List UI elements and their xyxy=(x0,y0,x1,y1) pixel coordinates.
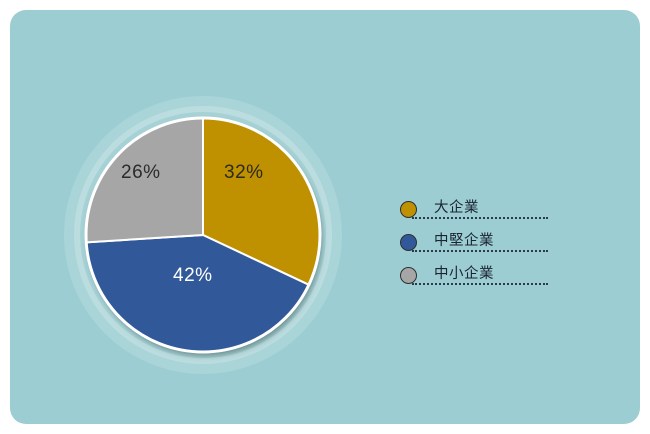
legend-item-large-enterprise[interactable]: 大企業 xyxy=(400,196,560,229)
legend-dotted-rule-0 xyxy=(412,217,548,219)
legend-item-midsize-enterprise[interactable]: 中堅企業 xyxy=(400,229,560,262)
legend-label-0: 大企業 xyxy=(434,196,479,217)
legend-dotted-rule-2 xyxy=(412,283,548,285)
chart-legend: 大企業 中堅企業 中小企業 xyxy=(400,196,560,295)
pie-svg xyxy=(58,90,348,380)
pie-chart-area: 32% 42% 26% xyxy=(58,90,348,380)
legend-item-small-enterprise[interactable]: 中小企業 xyxy=(400,262,560,295)
legend-label-1: 中堅企業 xyxy=(434,229,494,250)
legend-dotted-rule-1 xyxy=(412,250,548,252)
chart-panel: 32% 42% 26% 大企業 中堅企業 中小企業 xyxy=(10,10,640,424)
legend-swatch-icon-2 xyxy=(400,267,417,284)
chart-canvas: 32% 42% 26% 大企業 中堅企業 中小企業 xyxy=(0,0,650,434)
legend-swatch-icon-0 xyxy=(400,201,417,218)
legend-label-2: 中小企業 xyxy=(434,262,494,283)
legend-swatch-icon-1 xyxy=(400,234,417,251)
pie-slice-2[interactable] xyxy=(86,118,203,242)
